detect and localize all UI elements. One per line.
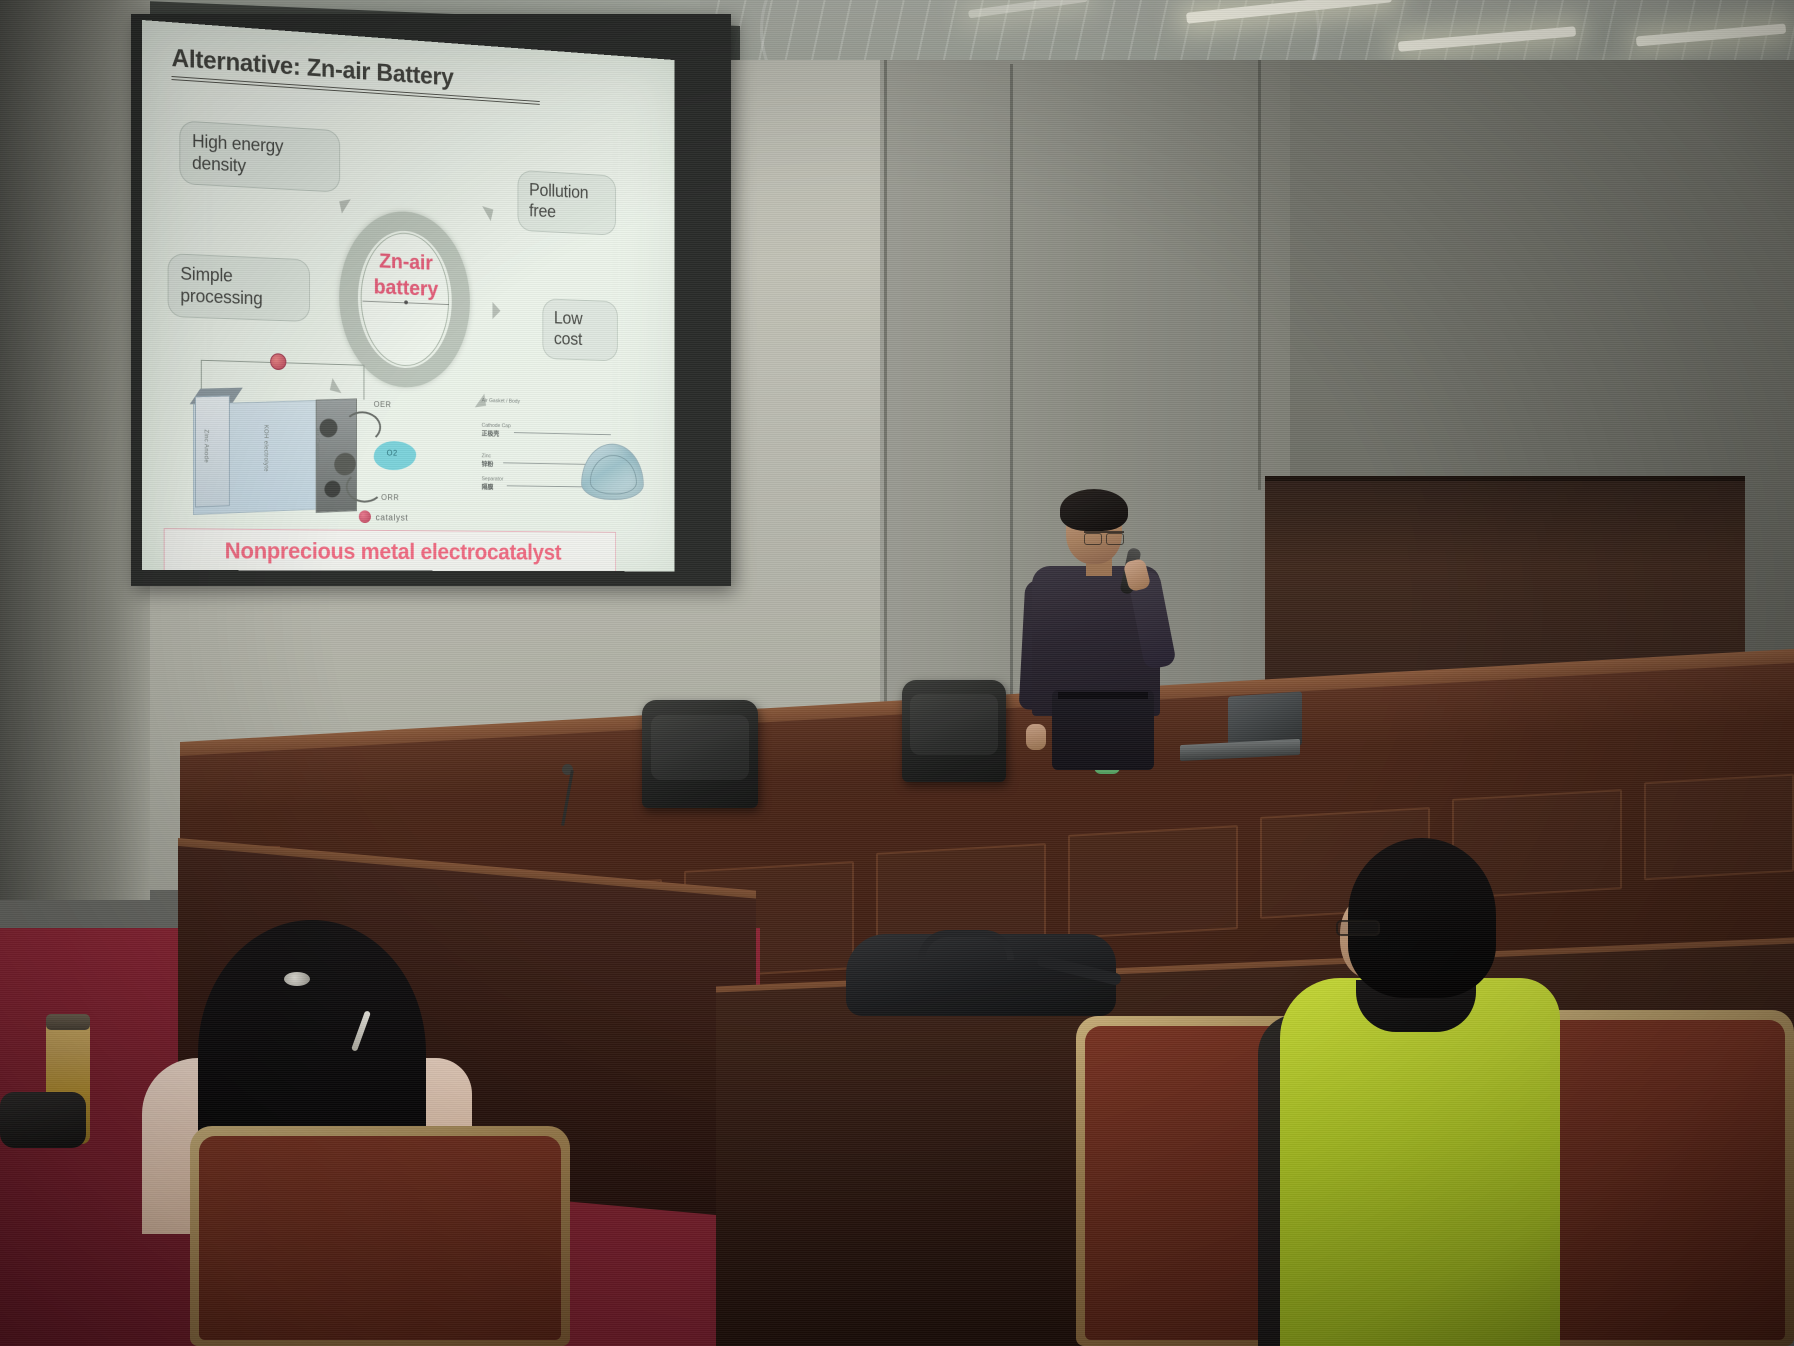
presenter-trousers [1052, 690, 1154, 770]
auditorium-seat-left-cushion [199, 1136, 561, 1340]
battery-center-label: Zn-air battery [359, 248, 453, 304]
slide-banner: Nonprecious metal electrocatalyst [164, 528, 616, 571]
arrow-to-low-cost [492, 302, 508, 320]
cell-zinc-anode [195, 395, 230, 507]
presentation-slide: Alternative: Zn-air Battery High energy … [142, 20, 675, 571]
bubble-high-energy-density: High energy density [179, 120, 340, 192]
oer-label: OER [374, 400, 392, 409]
bubble-label-simple-processing: Simple processing [180, 264, 262, 309]
oer-arc-arrow [344, 411, 381, 443]
glass-tea-bottle-cap [46, 1014, 90, 1030]
bubble-low-cost: Low cost [542, 298, 617, 361]
bubble-pollution-free: Pollution free [517, 170, 616, 236]
bench-panel-8 [1644, 774, 1794, 881]
wall-seam-1 [884, 60, 887, 760]
presenter-glasses [1084, 531, 1124, 541]
bubble-label-pollution-free: Pollution free [529, 180, 588, 221]
catalyst-dot-icon [359, 510, 371, 523]
audience-man-glasses [1336, 920, 1380, 936]
o2-label: O2 [387, 449, 398, 458]
exploded-label-1-cn: 锌粉 [482, 461, 494, 468]
left-wall-shadow [0, 0, 150, 900]
presenter-left-hand [1026, 724, 1046, 750]
presenter-belt [1058, 692, 1148, 699]
exploded-label-1: Zinc 锌粉 [482, 452, 494, 469]
exploded-label-0: Cathode Cap 正极壳 [482, 422, 511, 440]
exploded-label-1-en: Zinc [482, 453, 491, 459]
cell-label-koh-electrolyte: KOH electrolyte [263, 425, 269, 472]
audience-woman-hair-clip [284, 972, 310, 986]
conference-chair-left[interactable] [642, 700, 758, 808]
cell-label-air-cathode: Air Cathode [314, 428, 320, 463]
slide-title: Alternative: Zn-air Battery [172, 44, 663, 107]
cell-label-zinc-anode: Zinc Anode [203, 429, 209, 463]
exploded-label-2-en: Separator [482, 476, 504, 482]
bubble-label-high-energy-density: High energy density [192, 131, 283, 176]
bubble-simple-processing: Simple processing [168, 253, 310, 322]
arrow-to-high-energy-density [328, 189, 351, 213]
exploded-label-3: Air Gasket / Body [482, 397, 520, 406]
exploded-label-0-cn: 正极壳 [482, 431, 500, 438]
lecture-hall-photo: Alternative: Zn-air Battery High energy … [0, 0, 1794, 1346]
battery-center-label-line1: Zn-air [359, 248, 453, 278]
exploded-label-2: Separator 隔膜 [482, 475, 504, 492]
audience-man-jacket [1280, 978, 1560, 1346]
orr-label: ORR [381, 493, 399, 502]
exploded-battery-diagram: Cathode Cap 正极壳 Zinc 锌粉 Separator 隔膜 Air… [482, 420, 649, 525]
auditorium-seat-left[interactable] [190, 1126, 570, 1346]
exploded-leader-0 [514, 432, 611, 435]
camera-bag-handle [918, 930, 1014, 960]
exploded-label-3-en: Air Gasket / Body [482, 398, 520, 405]
arrow-to-pollution-free [482, 198, 504, 221]
catalyst-label: catalyst [376, 512, 409, 522]
exploded-label-0-en: Cathode Cap [482, 423, 511, 429]
conference-chair-right[interactable] [902, 680, 1006, 782]
presenter-hair [1060, 489, 1128, 531]
dark-object-on-desk [0, 1092, 86, 1148]
wall-seam-2 [1010, 64, 1013, 754]
cell-load-bulb-icon [270, 353, 286, 370]
zinc-air-cell-diagram: Zinc Anode KOH electrolyte Air Cathode O… [170, 351, 417, 532]
wall-seam-3 [1258, 60, 1261, 490]
bubble-label-low-cost: Low cost [554, 308, 583, 349]
orr-arc-arrow [346, 471, 383, 503]
auditorium-seat-right-cushion [1523, 1020, 1785, 1340]
bench-panel-5 [1068, 825, 1238, 939]
battery-center-label-line2: battery [359, 274, 453, 304]
slide-banner-text: Nonprecious metal electrocatalyst [225, 537, 562, 565]
audience-man-hair [1348, 838, 1496, 998]
projection-screen[interactable]: Alternative: Zn-air Battery High energy … [142, 20, 675, 571]
exploded-label-2-cn: 隔膜 [482, 484, 494, 491]
